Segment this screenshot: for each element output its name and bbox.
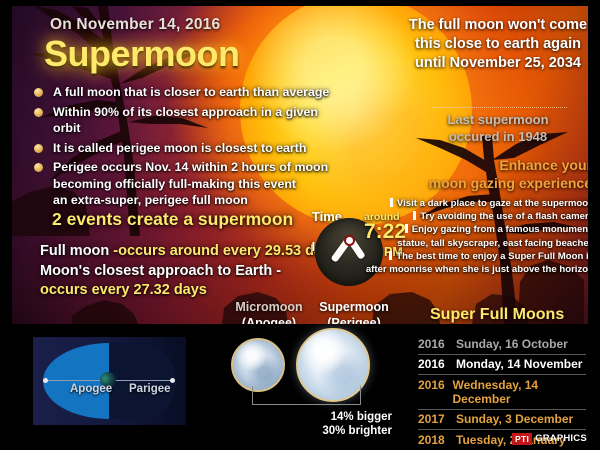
orbit-ellipse-shadow <box>109 343 176 419</box>
list-item: Within 90% of its closest approach in a … <box>34 104 344 137</box>
list-item: Perigee occurs Nov. 14 within 2 hours of… <box>34 159 344 209</box>
micromoon-subtitle: (Apogee) <box>225 315 313 324</box>
percent-brighter: 30% brighter <box>322 425 392 437</box>
list-item: Visit a dark place to gaze at the superm… <box>364 197 588 210</box>
table-row: 2016 Monday, 14 November <box>418 355 586 376</box>
fact-full-moon-cycle: Full moon -occurs around every 29.53 day… <box>40 242 340 260</box>
sky-scene: On November 14, 2016 Supermoon A full mo… <box>12 6 588 324</box>
table-row: 2016 Sunday, 16 October <box>418 334 586 355</box>
last-supermoon-line2: occured in 1948 <box>449 129 547 144</box>
apogee-label: Apogee <box>70 383 112 395</box>
tip-text-continued-wrap: statue, tall skyscraper, east facing bea… <box>364 237 588 250</box>
fact-value: occurs every 27.32 days <box>40 282 207 298</box>
fact-bullet-list: A full moon that is closer to earth than… <box>34 84 344 212</box>
table-cell-date: Sunday, 16 October <box>456 337 568 351</box>
pti-badge: PTI <box>512 433 532 445</box>
supermoon-subtitle: (Perigee) <box>309 315 399 324</box>
graphics-text: GRAPHICS <box>535 433 587 444</box>
fact-closest-approach-value: occurs every 27.32 days <box>40 281 340 299</box>
list-item: Try avoiding the use of a flash camera <box>364 210 588 223</box>
bullet-dot-icon <box>34 144 43 153</box>
page-title: Supermoon <box>44 33 240 75</box>
enhance-line2: moon gazing experience <box>429 175 588 191</box>
table-cell-year: 2017 <box>418 412 456 426</box>
tip-text: Enjoy gazing from a famous monument, <box>412 224 588 235</box>
tick-marker-icon <box>389 251 392 260</box>
clock-pivot <box>344 235 355 246</box>
tick-marker-icon <box>405 224 408 233</box>
table-cell-date: Monday, 14 November <box>456 357 582 371</box>
bullet-dot-icon <box>34 88 43 97</box>
bullet-text: Perigee occurs Nov. 14 within 2 hours of… <box>53 160 328 174</box>
table-row: 2017 Sunday, 3 December <box>418 410 586 431</box>
bullet-dot-icon <box>34 108 43 117</box>
table-cell-date: Wednesday, 14 December <box>453 378 586 406</box>
credit-logo: PTI GRAPHICS <box>512 432 587 445</box>
tip-text: Visit a dark place to gaze at the superm… <box>397 198 588 209</box>
micromoon-label: Micromoon (Apogee) <box>225 299 313 324</box>
list-item: It is called perigee moon is closest to … <box>34 140 344 157</box>
bullet-text: Within 90% of its closest approach in a … <box>53 105 318 136</box>
table-cell-year: 2016 <box>418 337 456 351</box>
bullet-text: It is called perigee moon is closest to … <box>53 141 306 155</box>
size-comparison-bracket <box>252 386 361 405</box>
fact-label: Moon's closest approach to Earth - <box>40 263 281 279</box>
bullet-dot-icon <box>34 163 43 172</box>
last-supermoon-note: Last supermoon occured in 1948 <box>404 111 588 145</box>
supermoon-title: Supermoon <box>319 300 388 314</box>
percent-bigger: 14% bigger <box>331 411 392 423</box>
tip-text: Try avoiding the use of a flash camera <box>420 211 588 222</box>
fact-label: Full moon <box>40 243 113 259</box>
fact-closest-approach-label: Moon's closest approach to Earth - <box>40 262 340 280</box>
right-headline: The full moon won't come this close to e… <box>404 16 588 73</box>
orbit-diagram: Apogee Parigee <box>33 337 186 425</box>
bottom-panel: Apogee Parigee 14% bigger 30% brighter 2… <box>0 324 600 450</box>
perigee-label: Parigee <box>129 383 171 395</box>
enhance-heading: Enhance your moon gazing experience <box>394 156 588 192</box>
bullet-text-continued: becoming officially full-making this eve… <box>53 176 344 193</box>
tick-marker-icon <box>390 198 393 207</box>
enhance-line1: Enhance your <box>499 157 588 173</box>
orbit-point-apogee <box>43 378 48 383</box>
table-cell-date: Sunday, 3 December <box>456 412 573 426</box>
size-comparison-text: 14% bigger 30% brighter <box>280 410 392 438</box>
micromoon-title: Micromoon <box>235 300 302 314</box>
size-comparison-bracket-end <box>360 386 361 404</box>
tips-list: Visit a dark place to gaze at the superm… <box>364 197 588 276</box>
super-full-moons-title: Super Full Moons <box>430 306 564 324</box>
kicker-date: On November 14, 2016 <box>50 16 220 34</box>
list-item: A full moon that is closer to earth than… <box>34 84 344 101</box>
tip-text: The best time to enjoy a Super Full Moon… <box>396 251 588 262</box>
tip-text-continued: after moonrise when she is just above th… <box>366 264 588 275</box>
bullet-text: A full moon that is closer to earth than… <box>53 85 329 99</box>
divider <box>432 107 567 108</box>
table-cell-year: 2016 <box>418 357 456 371</box>
events-heading: 2 events create a supermoon <box>52 209 293 230</box>
list-item: The best time to enjoy a Super Full Moon… <box>364 250 588 263</box>
table-row: 2016 Wednesday, 14 December <box>418 375 586 410</box>
infographic-poster: On November 14, 2016 Supermoon A full mo… <box>0 0 600 450</box>
tip-text-continued: statue, tall skyscraper, east facing bea… <box>397 238 588 249</box>
table-cell-year: 2016 <box>418 378 453 392</box>
tip-text-continued-wrap: after moonrise when she is just above th… <box>364 263 588 276</box>
table-cell-year: 2018 <box>418 433 456 447</box>
bullet-text-continued: an extra-super, perigee full moon <box>53 192 344 209</box>
tick-marker-icon <box>413 211 416 220</box>
list-item: Enjoy gazing from a famous monument, <box>364 223 588 236</box>
micromoon-image <box>231 338 285 392</box>
supermoon-label: Supermoon (Perigee) <box>309 299 399 324</box>
last-supermoon-line1: Last supermoon <box>447 112 548 127</box>
